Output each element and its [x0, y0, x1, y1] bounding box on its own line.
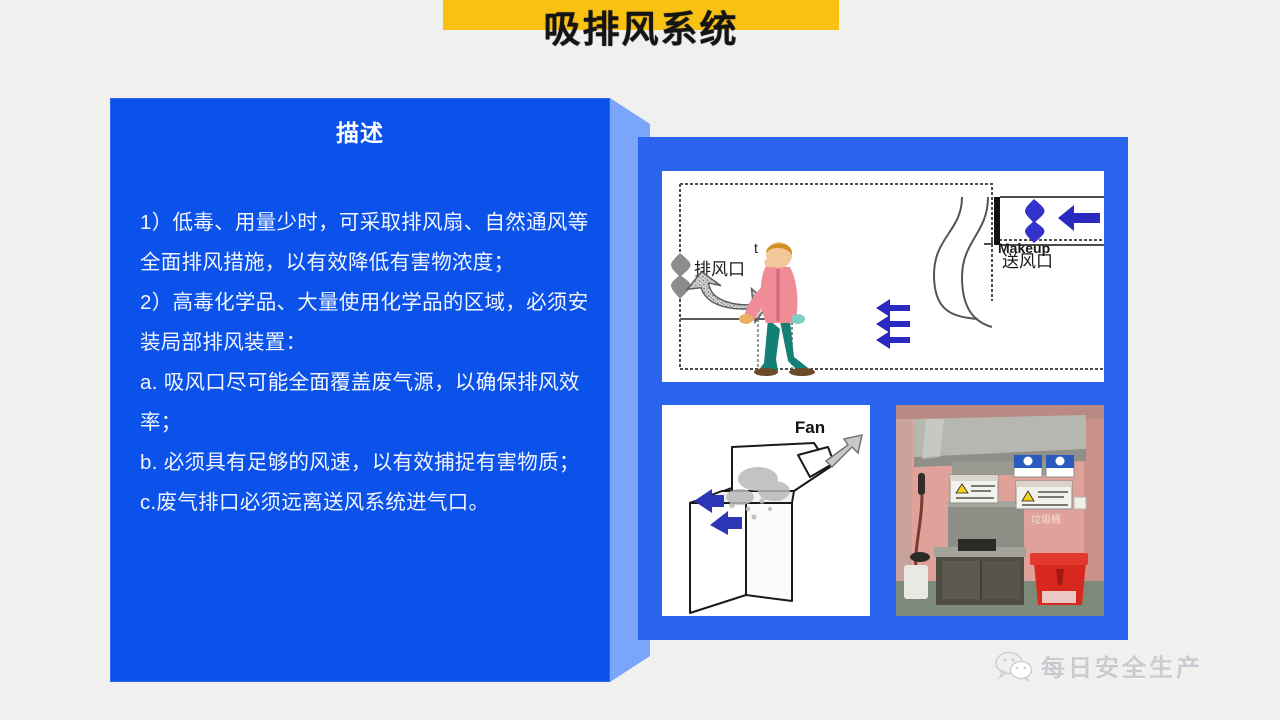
slide-canvas: 吸排风系统 描述 1）低毒、用量少时，可采取排风扇、自然通风等全面排风措施，以有…: [0, 0, 1280, 720]
description-line-4: b. 必须具有足够的风速，以有效捕捉有害物质；: [140, 443, 592, 483]
safety-sign-blue-right: [1046, 455, 1074, 477]
description-line-3: a. 吸风口尽可能全面覆盖废气源，以确保排风效率；: [140, 363, 592, 443]
watermark-text: 每日安全生产: [1041, 648, 1203, 683]
warning-sign-right: [1016, 481, 1072, 509]
description-line-2: 2）高毒化学品、大量使用化学品的区域，必须安装局部排风装置：: [140, 283, 592, 363]
wall-text-label: 垃圾桶: [1031, 513, 1061, 526]
tick-mark: t: [754, 240, 758, 256]
fan-label: Fan: [795, 418, 825, 437]
safety-sign-blue-left: [1014, 455, 1042, 477]
room-ventilation-diagram: Makeup 送风口 t 排风口: [662, 171, 1104, 382]
local-exhaust-hood-diagram: Fan: [662, 405, 870, 616]
wechat-icon: [995, 651, 1033, 681]
media-panel: Makeup 送风口 t 排风口: [638, 137, 1128, 640]
page-title: 吸排风系统: [443, 0, 839, 60]
description-heading: 描述: [110, 114, 610, 148]
supply-vent-label: 送风口: [1002, 252, 1053, 271]
description-body: 1）低毒、用量少时，可采取排风扇、自然通风等全面排风措施，以有效降低有害物浓度；…: [140, 203, 592, 523]
fume-hood-photo: 垃圾桶: [896, 405, 1104, 616]
description-line-5: c.废气排口必须远离送风系统进气口。: [140, 483, 592, 523]
description-panel: 描述 1）低毒、用量少时，可采取排风扇、自然通风等全面排风措施，以有效降低有害物…: [110, 98, 630, 682]
description-line-1: 1）低毒、用量少时，可采取排风扇、自然通风等全面排风措施，以有效降低有害物浓度；: [140, 203, 592, 283]
panel-face: 描述 1）低毒、用量少时，可采取排风扇、自然通风等全面排风措施，以有效降低有害物…: [110, 98, 610, 682]
airflow-arrows-icon: [876, 299, 910, 349]
waste-bin: [1030, 553, 1088, 605]
warning-sign-left: [950, 475, 998, 503]
watermark: 每日安全生产: [995, 648, 1203, 683]
